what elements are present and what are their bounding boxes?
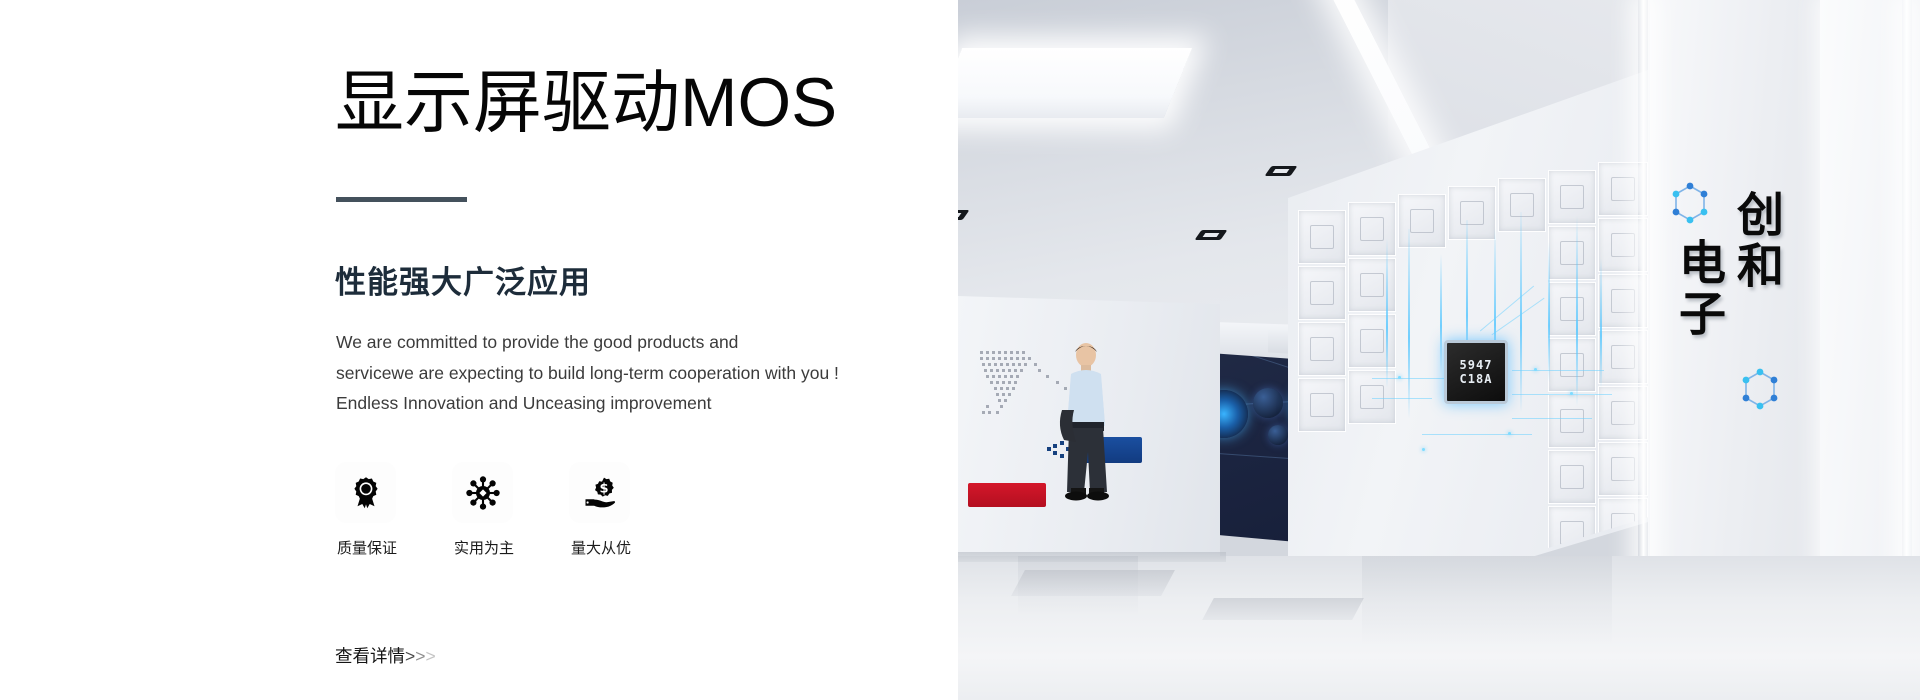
- skylight-panel-light: [958, 48, 1192, 118]
- description-line-3: Endless Innovation and Unceasing improve…: [336, 388, 896, 419]
- title-divider: [336, 197, 467, 202]
- page-title: 显示屏驱动MOS: [335, 63, 837, 143]
- description-paragraph: We are committed to provide the good pro…: [336, 327, 896, 419]
- signage-column-right: 创和: [1730, 190, 1782, 292]
- floor-inlay-1: [1011, 570, 1175, 596]
- svg-text:$: $: [599, 481, 608, 496]
- led-video-wall: 5947 C18A: [1362, 198, 1614, 488]
- chip-label-line-2: C18A: [1460, 372, 1493, 386]
- feature-item-practical[interactable]: 实用为主: [452, 462, 569, 559]
- feature-label: 质量保证: [337, 539, 397, 559]
- description-line-1: We are committed to provide the good pro…: [336, 327, 896, 358]
- award-ribbon-icon: [335, 462, 396, 523]
- navy-wall-photo-circle-2: [1253, 388, 1283, 418]
- molecule-hex-icon-bottom: [1738, 366, 1782, 414]
- chip-label-line-1: 5947: [1460, 358, 1493, 372]
- signage-column-left: 电子: [1672, 238, 1724, 340]
- feature-item-quality[interactable]: 质量保证: [335, 462, 452, 559]
- showroom-interior-photo: 5947 C18A 创和 电子: [958, 0, 1920, 700]
- description-line-2: servicewe are expecting to build long-te…: [336, 358, 896, 389]
- person-businessman: [1046, 340, 1126, 520]
- navy-wall-photo-circle-4: [1268, 425, 1288, 445]
- chevron-1-icon: >: [405, 646, 415, 666]
- hand-holding-coin-icon: $: [569, 462, 630, 523]
- hero-banner: 显示屏驱动MOS 性能强大广泛应用 We are committed to pr…: [0, 0, 1920, 700]
- led-chip-graphic: 5947 C18A: [1444, 340, 1508, 404]
- left-text-panel: 显示屏驱动MOS 性能强大广泛应用 We are committed to pr…: [0, 0, 958, 700]
- feature-label: 量大从优: [571, 539, 631, 559]
- subtitle: 性能强大广泛应用: [335, 263, 591, 303]
- feature-item-bulk-discount[interactable]: $ 量大从优: [569, 462, 686, 559]
- feature-list: 质量保证: [335, 462, 686, 559]
- chevron-2-icon: >: [415, 646, 425, 666]
- wall-signage-chuanghe-electronics: 创和 电子: [1664, 188, 1824, 418]
- chevron-3-icon: >: [425, 646, 435, 666]
- view-detail-label: 查看详情: [335, 646, 405, 666]
- view-detail-link[interactable]: 查看详情>>>: [335, 644, 436, 668]
- feature-label: 实用为主: [454, 539, 514, 559]
- text-content-block: 显示屏驱动MOS 性能强大广泛应用 We are committed to pr…: [335, 0, 915, 700]
- wall-sign-red: [968, 483, 1046, 507]
- floor-reflection-led: [1362, 556, 1612, 646]
- floor-inlay-2: [1202, 598, 1364, 620]
- molecule-hex-icon-top: [1668, 180, 1712, 228]
- network-hub-icon: [452, 462, 513, 523]
